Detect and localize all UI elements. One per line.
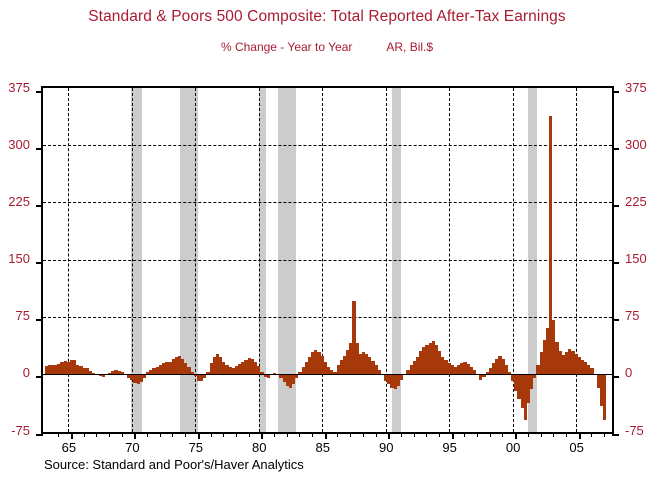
x-axis-label: 75 (176, 440, 216, 455)
subtitle-right-text: AR, Bil.$ (386, 40, 433, 54)
y-axis-label-right: 0 (625, 365, 632, 380)
y-axis-tick-right (612, 205, 619, 207)
x-axis-tick-minor (604, 432, 605, 437)
y-axis-tick-left (36, 205, 43, 207)
x-axis-tick-minor (185, 432, 186, 437)
gridline-vertical (259, 88, 260, 432)
y-axis-label-left: 300 (8, 137, 30, 152)
x-axis-tick-minor (249, 432, 250, 437)
x-axis-tick-minor (363, 432, 364, 437)
x-axis-tick-minor (414, 432, 415, 437)
x-axis-tick-minor (223, 432, 224, 437)
x-axis-tick-minor (477, 432, 478, 437)
x-axis-tick-minor (96, 432, 97, 437)
x-axis-tick-minor (502, 432, 503, 437)
bar (603, 374, 606, 420)
x-axis-tick-minor (528, 432, 529, 437)
x-axis-tick-minor (211, 432, 212, 437)
x-axis-tick-minor (376, 432, 377, 437)
x-axis-label: 05 (557, 440, 597, 455)
source-note: Source: Standard and Poor's/Haver Analyt… (44, 457, 304, 472)
y-axis-label-right: 225 (625, 194, 647, 209)
y-axis-tick-right (612, 434, 619, 436)
x-axis-tick-minor (464, 432, 465, 437)
x-axis-label: 00 (493, 440, 533, 455)
x-axis-tick-minor (566, 432, 567, 437)
x-axis-label: 70 (112, 440, 152, 455)
x-axis-label: 90 (366, 440, 406, 455)
y-axis-tick-right (612, 148, 619, 150)
x-axis-tick-minor (274, 432, 275, 437)
x-axis-tick-minor (122, 432, 123, 437)
x-axis-tick-minor (287, 432, 288, 437)
gridline-horizontal (43, 260, 612, 261)
y-axis-label-right: 300 (625, 137, 647, 152)
y-axis-tick-right (612, 262, 619, 264)
y-axis-tick-left (36, 148, 43, 150)
gridline-vertical (449, 88, 450, 432)
x-axis-tick-minor (236, 432, 237, 437)
y-axis-tick-right (612, 319, 619, 321)
gridline-vertical (576, 88, 577, 432)
chart-subtitle: % Change - Year to YearAR, Bil.$ (0, 40, 654, 54)
y-axis-label-left: 375 (8, 80, 30, 95)
x-axis-tick-minor (84, 432, 85, 437)
x-axis-tick-minor (299, 432, 300, 437)
x-axis-tick-major (134, 432, 136, 439)
gridline-horizontal (43, 145, 612, 146)
gridline-vertical (322, 88, 323, 432)
y-axis-tick-right (612, 91, 619, 93)
x-axis-tick-major (388, 432, 390, 439)
x-axis-tick-major (261, 432, 263, 439)
plot-inner (43, 88, 612, 432)
y-axis-label-right: -75 (625, 423, 644, 438)
x-axis-tick-major (71, 432, 73, 439)
gridline-vertical (68, 88, 69, 432)
y-axis-label-right: 75 (625, 308, 639, 323)
y-axis-tick-left (36, 376, 43, 378)
x-axis-tick-minor (541, 432, 542, 437)
x-axis-tick-minor (401, 432, 402, 437)
y-axis-tick-left (36, 434, 43, 436)
x-axis-tick-major (325, 432, 327, 439)
x-axis-tick-major (579, 432, 581, 439)
x-axis-label: 65 (49, 440, 89, 455)
y-axis-label-right: 150 (625, 251, 647, 266)
x-axis-tick-major (515, 432, 517, 439)
x-axis-tick-major (452, 432, 454, 439)
x-axis-tick-major (198, 432, 200, 439)
x-axis-tick-minor (350, 432, 351, 437)
y-axis-label-left: 150 (8, 251, 30, 266)
x-axis-tick-minor (172, 432, 173, 437)
zero-line (43, 374, 612, 375)
x-axis-label: 80 (239, 440, 279, 455)
y-axis-label-left: 225 (8, 194, 30, 209)
x-axis-label: 85 (303, 440, 343, 455)
chart-title: Standard & Poors 500 Composite: Total Re… (0, 8, 654, 26)
x-axis-tick-minor (160, 432, 161, 437)
plot-area (41, 86, 614, 434)
y-axis-tick-left (36, 319, 43, 321)
y-axis-label-left: 75 (16, 308, 30, 323)
x-axis-tick-minor (109, 432, 110, 437)
x-axis-tick-minor (337, 432, 338, 437)
x-axis-tick-minor (426, 432, 427, 437)
y-axis-tick-right (612, 376, 619, 378)
y-axis-tick-left (36, 262, 43, 264)
x-axis-tick-minor (439, 432, 440, 437)
chart-container: Standard & Poors 500 Composite: Total Re… (0, 0, 654, 491)
gridline-horizontal (43, 317, 612, 318)
gridline-horizontal (43, 202, 612, 203)
y-axis-label-left: -75 (11, 423, 30, 438)
y-axis-label-left: 0 (23, 365, 30, 380)
subtitle-left-text: % Change - Year to Year (221, 40, 352, 54)
x-axis-tick-minor (312, 432, 313, 437)
x-axis-tick-minor (58, 432, 59, 437)
x-axis-tick-minor (490, 432, 491, 437)
x-axis-tick-minor (553, 432, 554, 437)
y-axis-label-right: 375 (625, 80, 647, 95)
x-axis-label: 95 (430, 440, 470, 455)
y-axis-tick-left (36, 91, 43, 93)
x-axis-tick-minor (147, 432, 148, 437)
x-axis-tick-minor (591, 432, 592, 437)
